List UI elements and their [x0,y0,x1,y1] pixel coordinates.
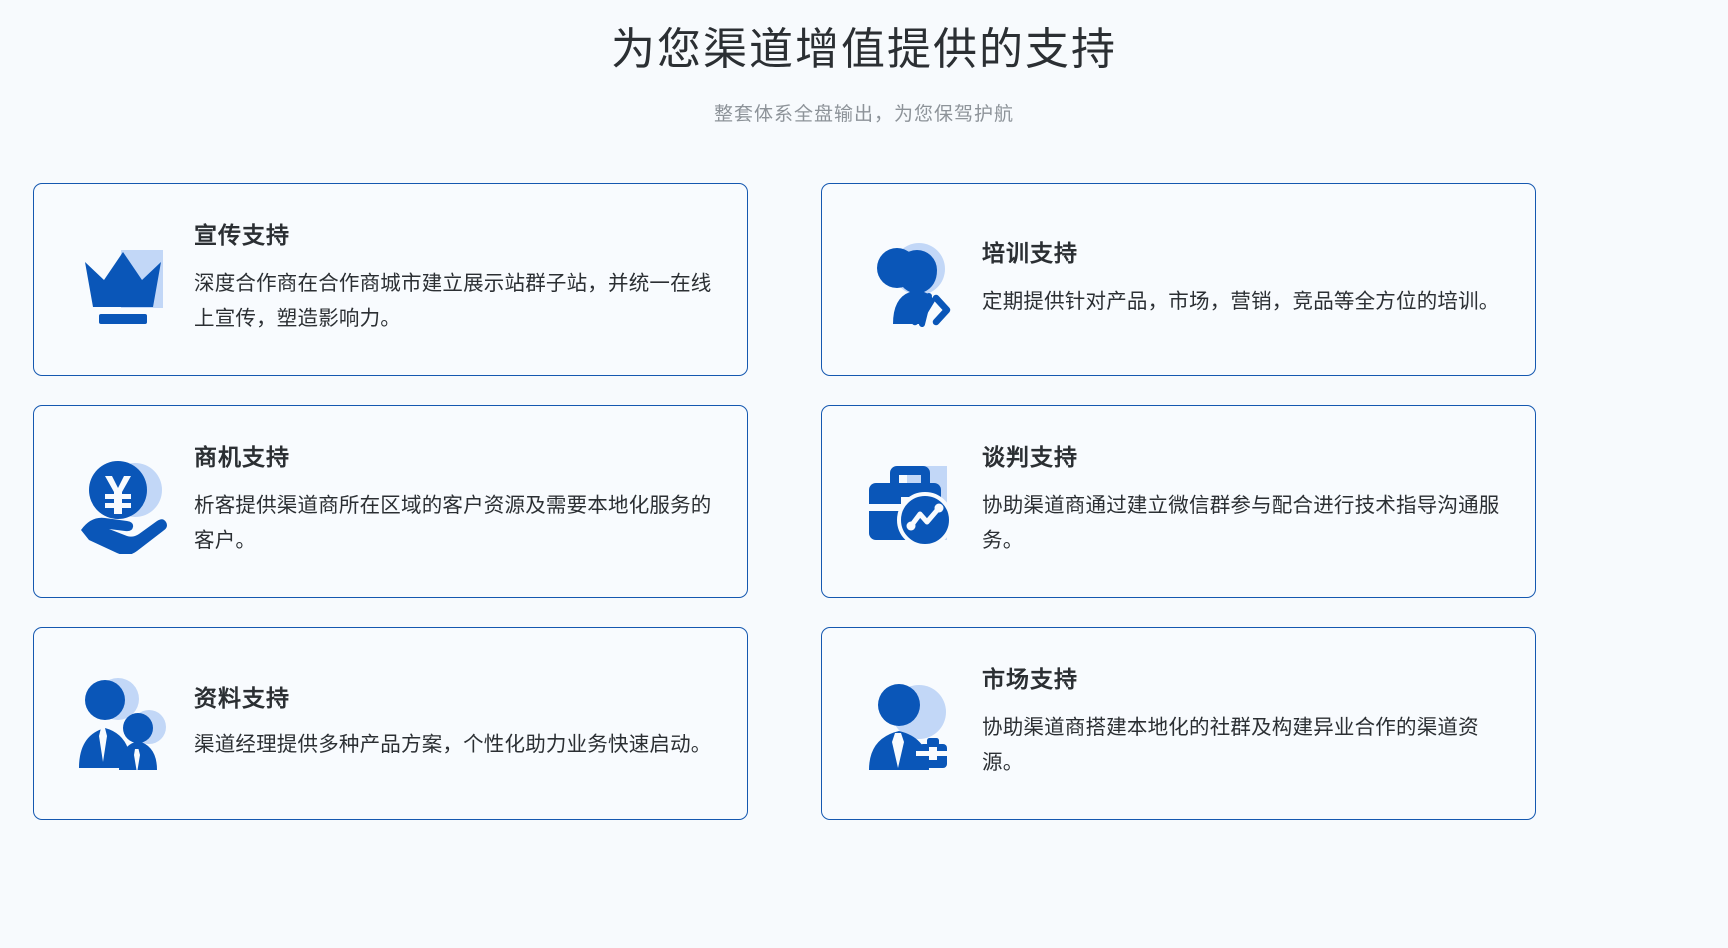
card-body: 市场支持 协助渠道商搭建本地化的社群及构建异业合作的渠道资源。 [974,666,1509,780]
card-description: 深度合作商在合作商城市建立展示站群子站，并统一在线上宣传，塑造影响力。 [194,266,717,337]
card-title: 资料支持 [194,685,717,713]
person-briefcase-icon [848,661,974,787]
page-subtitle: 整套体系全盘输出，为您保驾护航 [0,99,1728,126]
card-title: 培训支持 [982,240,1505,268]
card-description: 协助渠道商搭建本地化的社群及构建异业合作的渠道资源。 [982,710,1505,781]
support-card-grid: 宣传支持 深度合作商在合作商城市建立展示站群子站，并统一在线上宣传，塑造影响力。… [33,183,1508,820]
briefcase-chart-icon [848,439,974,565]
page-header: 为您渠道增值提供的支持 整套体系全盘输出，为您保驾护航 [0,0,1728,126]
card-title: 宣传支持 [194,222,717,250]
card-title: 谈判支持 [982,444,1505,472]
card-description: 析客提供渠道商所在区域的客户资源及需要本地化服务的客户。 [194,488,717,559]
card-body: 谈判支持 协助渠道商通过建立微信群参与配合进行技术指导沟通服务。 [974,444,1509,558]
card-body: 资料支持 渠道经理提供多种产品方案，个性化助力业务快速启动。 [186,685,721,762]
card-title: 市场支持 [982,666,1505,694]
support-card-publicity[interactable]: 宣传支持 深度合作商在合作商城市建立展示站群子站，并统一在线上宣传，塑造影响力。 [33,183,748,376]
card-body: 培训支持 定期提供针对产品，市场，营销，竞品等全方位的培训。 [974,240,1509,319]
page-title: 为您渠道增值提供的支持 [0,22,1728,77]
support-card-marketing[interactable]: 市场支持 协助渠道商搭建本地化的社群及构建异业合作的渠道资源。 [821,627,1536,820]
card-description: 协助渠道商通过建立微信群参与配合进行技术指导沟通服务。 [982,488,1505,559]
support-card-negotiation[interactable]: 谈判支持 协助渠道商通过建立微信群参与配合进行技术指导沟通服务。 [821,405,1536,598]
card-description: 渠道经理提供多种产品方案，个性化助力业务快速启动。 [194,727,717,762]
support-benefits-page: 为您渠道增值提供的支持 整套体系全盘输出，为您保驾护航 宣传支持 深度合作商在合… [0,0,1728,948]
hand-yen-icon [60,439,186,565]
support-card-opportunity[interactable]: 商机支持 析客提供渠道商所在区域的客户资源及需要本地化服务的客户。 [33,405,748,598]
support-card-training[interactable]: 培训支持 定期提供针对产品，市场，营销，竞品等全方位的培训。 [821,183,1536,376]
card-title: 商机支持 [194,444,717,472]
card-body: 宣传支持 深度合作商在合作商城市建立展示站群子站，并统一在线上宣传，塑造影响力。 [186,222,721,336]
card-body: 商机支持 析客提供渠道商所在区域的客户资源及需要本地化服务的客户。 [186,444,721,558]
two-people-icon [60,661,186,787]
person-code-icon [848,217,974,343]
crown-icon [60,217,186,343]
card-description: 定期提供针对产品，市场，营销，竞品等全方位的培训。 [982,284,1505,319]
support-card-materials[interactable]: 资料支持 渠道经理提供多种产品方案，个性化助力业务快速启动。 [33,627,748,820]
